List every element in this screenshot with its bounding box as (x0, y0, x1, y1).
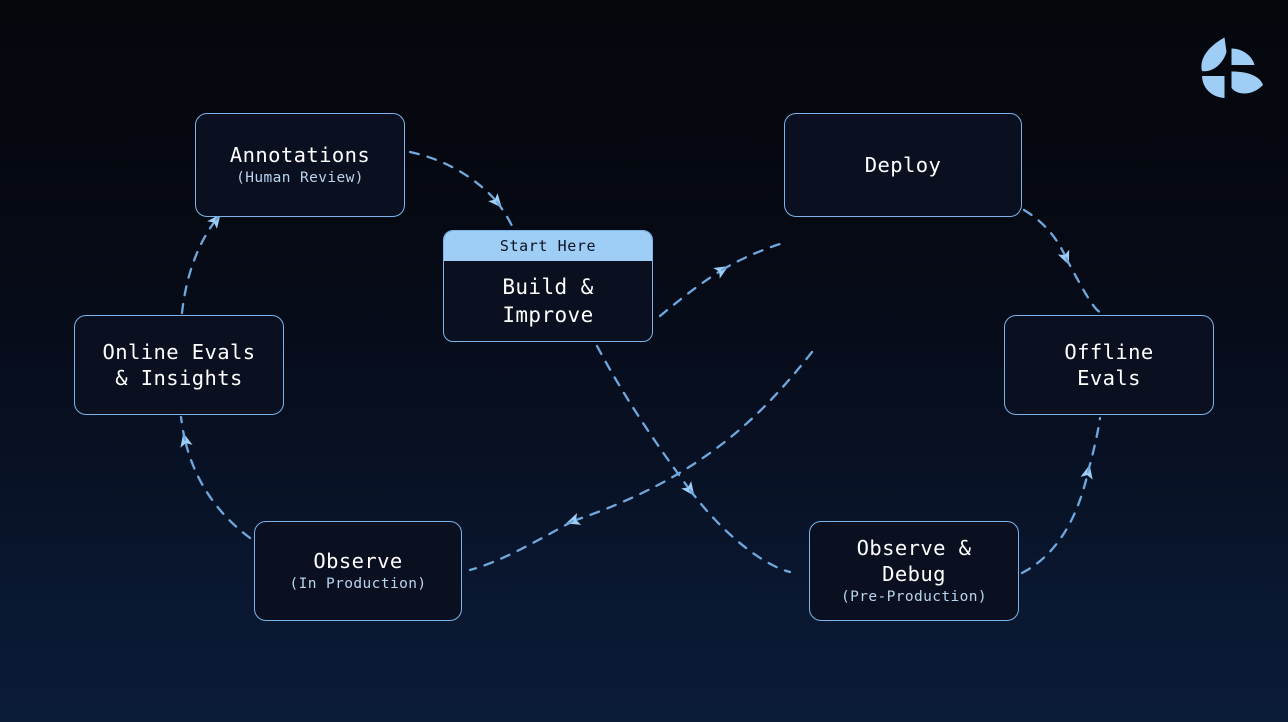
node-offline-evals[interactable]: Offline Evals (1004, 315, 1214, 415)
edge-build-to-observedebug (597, 346, 690, 490)
edge-annotations-to-build (410, 152, 497, 202)
node-observe[interactable]: Observe (In Production) (254, 521, 462, 621)
node-build-improve[interactable]: Start Here Build & Improve (443, 230, 653, 342)
edge-observe-to-online (185, 440, 250, 538)
node-subtitle: (In Production) (290, 575, 427, 594)
node-title: Observe & Debug (857, 535, 972, 587)
edge-online-to-annotations (182, 220, 216, 313)
node-observe-debug[interactable]: Observe & Debug (Pre-Production) (809, 521, 1019, 621)
node-title: Online Evals & Insights (103, 339, 256, 391)
node-deploy[interactable]: Deploy (784, 113, 1022, 217)
node-subtitle: (Pre-Production) (841, 588, 987, 607)
start-here-badge: Start Here (444, 231, 652, 261)
edge-observedebug-to-observe (573, 352, 812, 521)
node-title: Offline Evals (1064, 339, 1153, 391)
node-online-evals[interactable]: Online Evals & Insights (74, 315, 284, 415)
edge-offline-to-observedebug (1022, 472, 1088, 573)
node-title: Deploy (865, 152, 941, 178)
edge-deploy-to-offline (1024, 210, 1066, 258)
node-subtitle: (Human Review) (236, 169, 364, 188)
node-title: Observe (313, 548, 402, 574)
diagram-canvas: Annotations (Human Review) Online Evals … (0, 0, 1288, 722)
node-title: Annotations (230, 142, 370, 168)
node-title: Build & Improve (502, 273, 593, 329)
node-annotations[interactable]: Annotations (Human Review) (195, 113, 405, 217)
edge-build-to-deploy (660, 270, 722, 316)
node-body: Build & Improve (446, 263, 650, 339)
